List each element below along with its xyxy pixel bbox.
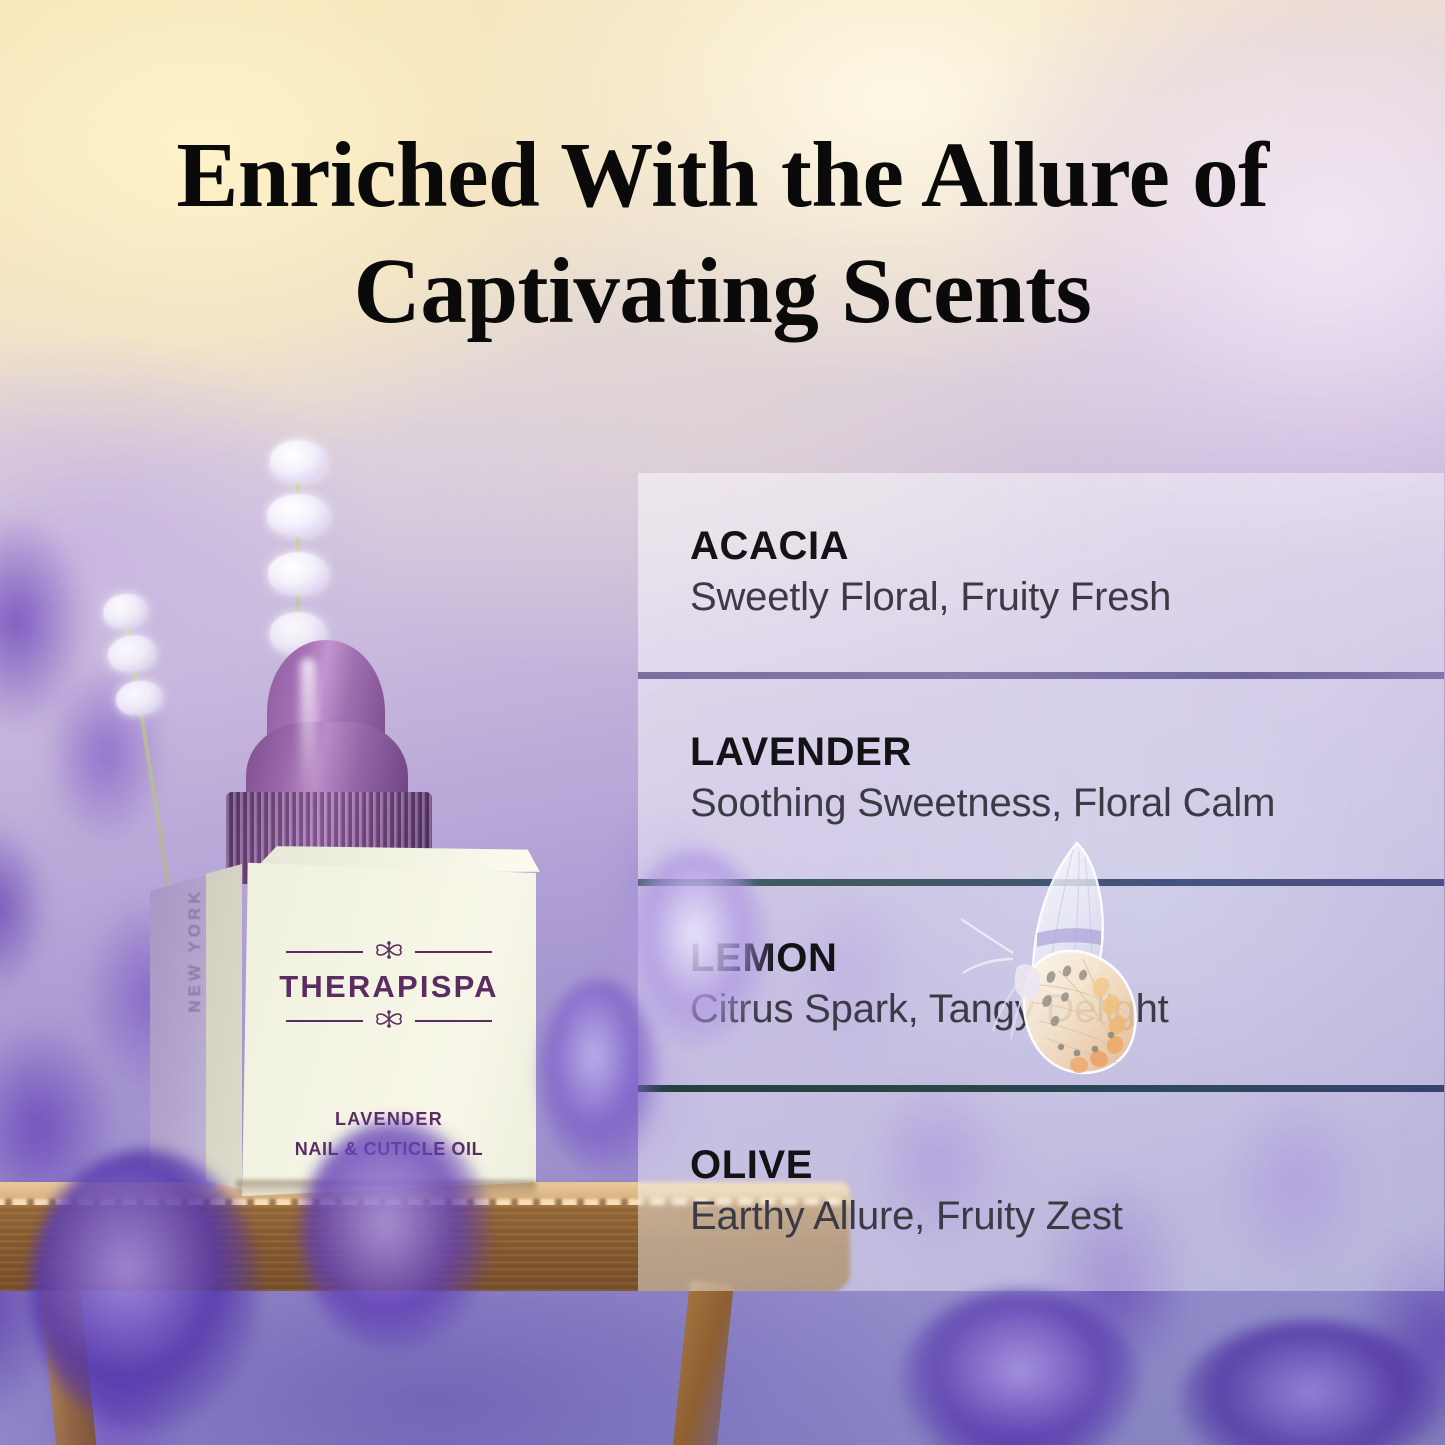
scent-row[interactable]: ACACIA Sweetly Floral, Fruity Fresh: [638, 473, 1444, 672]
sprig-floret: [267, 494, 329, 536]
page-title: Enriched With the Allure of Captivating …: [0, 118, 1445, 351]
brand-name: THERAPISPA: [279, 969, 499, 1005]
sprig-floret: [270, 440, 326, 482]
scent-separator: [638, 1085, 1444, 1092]
headline-line-1: Enriched With the Allure of: [176, 124, 1268, 227]
row-veil: [638, 886, 1444, 1085]
scent-description: Sweetly Floral, Fruity Fresh: [690, 574, 1444, 620]
scent-name: LEMON: [690, 937, 1444, 979]
scent-name: ACACIA: [690, 525, 1444, 567]
product-type: NAIL & CUTICLE OIL: [295, 1139, 483, 1160]
scent-row[interactable]: LEMON Citrus Spark, Tangy Delight: [638, 886, 1444, 1085]
scent-name: OLIVE: [690, 1144, 1444, 1186]
scent-name: LAVENDER: [690, 731, 1444, 773]
scent-list-panel: ACACIA Sweetly Floral, Fruity Fresh LAVE…: [638, 473, 1444, 1291]
scent-row[interactable]: OLIVE Earthy Allure, Fruity Zest: [638, 1092, 1444, 1291]
sprig-floret: [101, 591, 150, 631]
row-veil: [638, 473, 1444, 672]
promo-canvas: Enriched With the Allure of Captivating …: [0, 0, 1445, 1445]
bottle-side-text: NEW YORK: [185, 875, 205, 1025]
headline-line-2: Captivating Scents: [0, 234, 1445, 350]
ornament-rule-left: [286, 951, 363, 953]
product-bottle: NEW YORK: [150, 640, 560, 1200]
row-veil: [638, 1092, 1444, 1291]
scent-description: Citrus Spark, Tangy Delight: [690, 986, 1444, 1032]
scent-description: Earthy Allure, Fruity Zest: [690, 1193, 1444, 1239]
product-variant: LAVENDER: [335, 1109, 443, 1130]
bottle-bevel: [206, 864, 242, 1190]
ornament-rule-right: [415, 951, 492, 953]
ornament-divider-bottom: [286, 1011, 492, 1031]
ornament-rule-right: [415, 1020, 492, 1022]
scent-separator: [638, 879, 1444, 886]
cap-highlight: [300, 658, 316, 798]
ornament-rule-left: [286, 1020, 363, 1022]
ornament-knot-icon: [369, 940, 409, 965]
scent-description: Soothing Sweetness, Floral Calm: [690, 780, 1444, 826]
bottle-label: THERAPISPA LAVENDER: [246, 892, 532, 1192]
scent-separator: [638, 672, 1444, 679]
scent-row[interactable]: LAVENDER Soothing Sweetness, Floral Calm: [638, 679, 1444, 878]
ornament-divider-top: [286, 942, 492, 962]
ornament-knot-icon: [369, 1009, 409, 1034]
row-veil: [638, 679, 1444, 878]
sprig-floret: [268, 552, 328, 594]
